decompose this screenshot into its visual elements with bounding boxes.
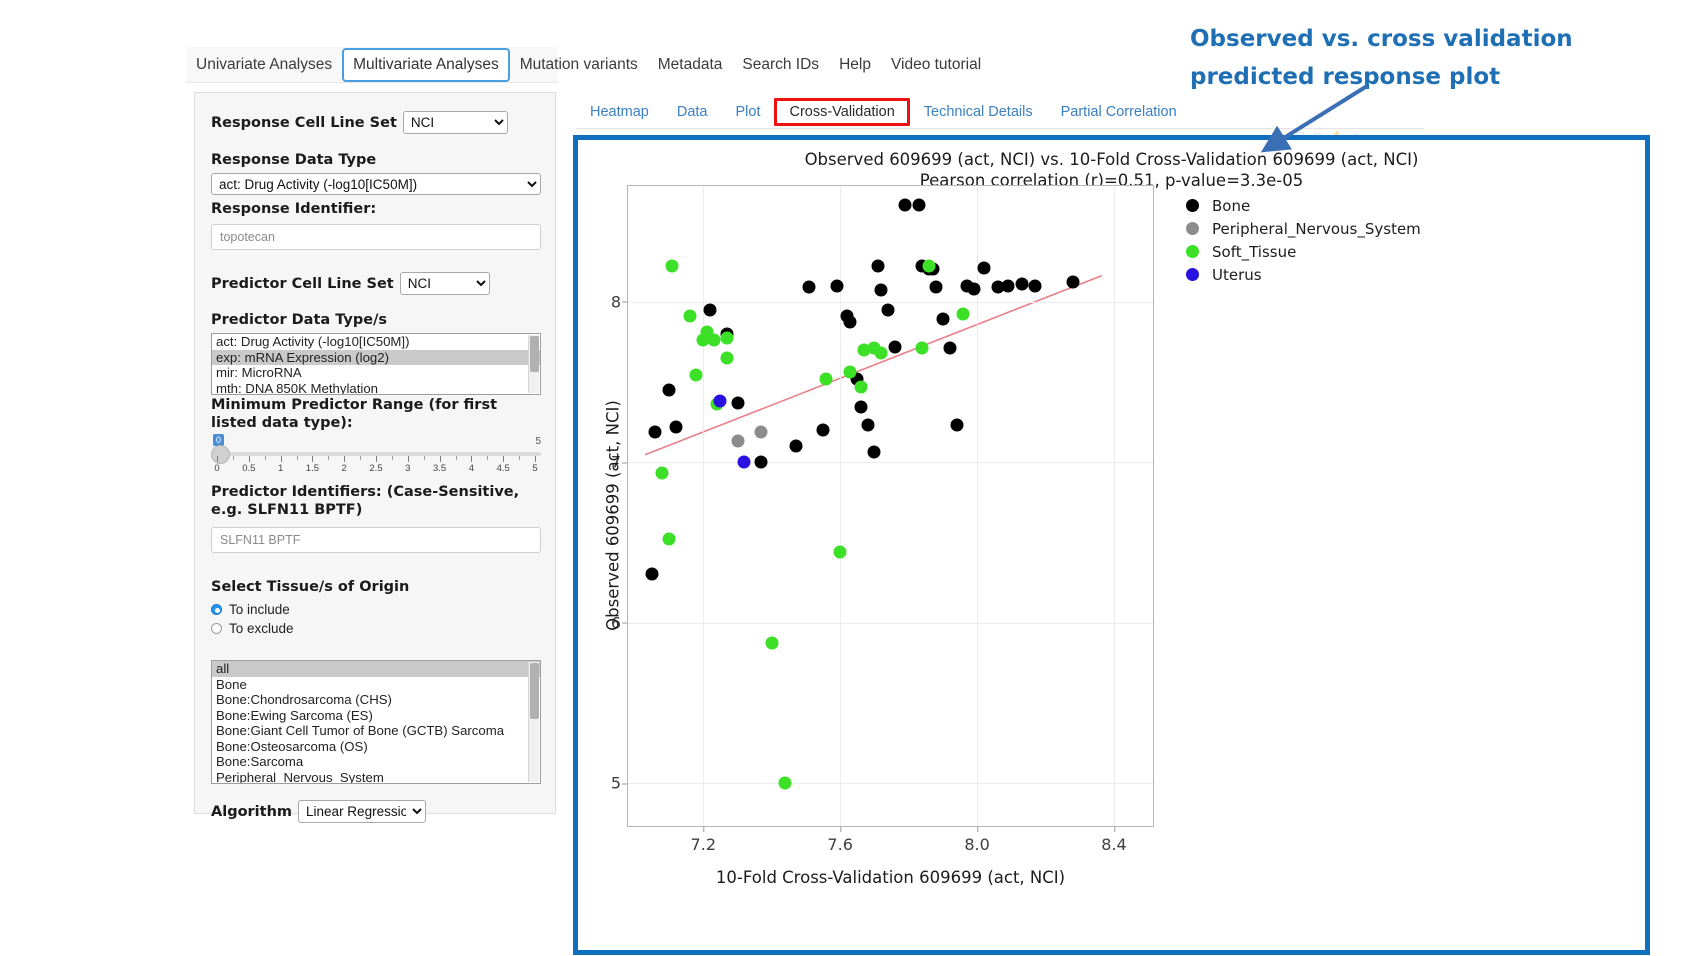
callout-arrow-icon [1255,80,1375,160]
gridline-horizontal [628,462,1153,463]
algorithm-select[interactable]: Linear Regression [298,800,426,823]
gridline-horizontal [628,783,1153,784]
legend-label-peripheral-nervous-system: Peripheral_Nervous_System [1212,220,1421,238]
callout-line-2: predicted response plot [1190,58,1610,96]
listbox-option[interactable]: Bone:Chondrosarcoma (CHS) [212,692,540,708]
slider-tick-label: 1 [278,463,283,474]
predictor-data-types-label: Predictor Data Type/s [211,311,539,329]
scatter-point-bone[interactable] [663,383,676,396]
scatter-point-soft-tissue[interactable] [721,332,734,345]
scatter-plot-axes[interactable]: 56787.27.68.08.4 [627,185,1154,827]
slider-tick-label: 2.5 [369,463,382,474]
scatter-point-bone[interactable] [977,261,990,274]
scatter-point-bone[interactable] [817,423,830,436]
legend-label-soft-tissue: Soft_Tissue [1212,243,1296,261]
gridline-vertical [1114,186,1115,826]
scatter-point-bone[interactable] [882,303,895,316]
scatter-point-bone[interactable] [1001,279,1014,292]
response-cell-line-set-row: Response Cell Line Set NCI [211,111,539,134]
scatter-point-soft-tissue[interactable] [765,637,778,650]
predictor-cell-line-set-label: Predictor Cell Line Set [211,275,394,293]
listbox-option[interactable]: Bone:Ewing Sarcoma (ES) [212,708,540,724]
scatter-point-bone[interactable] [1066,276,1079,289]
scatter-point-bone[interactable] [912,199,925,212]
predictor-identifiers-label: Predictor Identifiers: (Case-Sensitive, … [211,483,531,519]
scatter-point-bone[interactable] [871,260,884,273]
subtab-partial-correlation[interactable]: Partial Correlation [1047,100,1191,124]
x-axis-tick-label: 8.0 [964,835,989,854]
x-axis-tick-label: 7.2 [691,835,716,854]
scatter-point-soft-tissue[interactable] [707,334,720,347]
scatter-point-soft-tissue[interactable] [779,777,792,790]
response-identifier-label: Response Identifier: [211,200,539,218]
legend-item-soft-tissue[interactable]: Soft_Tissue [1186,240,1421,263]
tissue-mode-include[interactable]: To include [211,602,539,617]
legend-item-uterus[interactable]: Uterus [1186,263,1421,286]
scatter-point-bone[interactable] [899,199,912,212]
callout-annotation: Observed vs. cross validation predicted … [1190,20,1610,96]
scrollbar-thumb[interactable] [530,336,539,372]
min-predictor-range-slider[interactable]: 0 5 00.511.522.533.544.55 [211,434,541,480]
legend-label-bone: Bone [1212,197,1250,215]
listbox-option[interactable]: Bone:Giant Cell Tumor of Bone (GCTB) Sar… [212,723,540,739]
response-data-type-select[interactable]: act: Drug Activity (-log10[IC50M]) [211,173,541,195]
listbox-option[interactable]: mth: DNA 850K Methylation [212,381,540,396]
gridline-vertical [977,186,978,826]
scatter-point-bone[interactable] [669,420,682,433]
subtab-heatmap[interactable]: Heatmap [576,100,663,124]
tissue-mode-exclude[interactable]: To exclude [211,621,539,636]
slider-tick-label: 4 [469,463,474,474]
listbox-option[interactable]: Peripheral_Nervous_System [212,770,540,785]
scatter-point-bone[interactable] [649,425,662,438]
scatter-point-bone[interactable] [731,396,744,409]
scatter-point-uterus[interactable] [714,395,727,408]
listbox-option[interactable]: act: Drug Activity (-log10[IC50M]) [212,334,540,350]
legend-swatch-peripheral-nervous-system [1186,222,1199,235]
x-axis-label: 10-Fold Cross-Validation 609699 (act, NC… [627,868,1154,887]
plot-legend: Bone Peripheral_Nervous_System Soft_Tiss… [1186,194,1421,286]
slider-tick-labels: 00.511.522.533.544.55 [211,463,541,475]
response-cell-line-set-select[interactable]: NCI [403,111,508,134]
response-cell-line-set-label: Response Cell Line Set [211,114,397,132]
scatter-point-soft-tissue[interactable] [656,467,669,480]
scatter-point-bone[interactable] [950,419,963,432]
slider-tick-label: 3 [405,463,410,474]
slider-max-label: 5 [535,436,541,447]
scatter-point-peripheral-nervous-system[interactable] [755,425,768,438]
listbox-option[interactable]: Bone:Osteosarcoma (OS) [212,739,540,755]
scatter-point-soft-tissue[interactable] [923,260,936,273]
scatter-point-peripheral-nervous-system[interactable] [731,435,744,448]
scatter-point-soft-tissue[interactable] [834,545,847,558]
cross-validation-plot-panel: Observed 609699 (act, NCI) vs. 10-Fold C… [573,135,1650,955]
scatter-point-soft-tissue[interactable] [854,380,867,393]
nav-item-video-tutorial[interactable]: Video tutorial [881,49,991,81]
radio-exclude-icon[interactable] [211,623,222,634]
scatter-point-bone[interactable] [967,282,980,295]
scatter-point-soft-tissue[interactable] [721,351,734,364]
scatter-point-soft-tissue[interactable] [690,369,703,382]
listbox-option[interactable]: mir: MicroRNA [212,365,540,381]
scatter-point-soft-tissue[interactable] [683,310,696,323]
subtab-data[interactable]: Data [663,100,722,124]
scatter-point-soft-tissue[interactable] [844,366,857,379]
scatter-point-bone[interactable] [803,281,816,294]
y-axis-tick-label: 5 [611,774,621,793]
scatter-point-soft-tissue[interactable] [820,372,833,385]
scatter-point-bone[interactable] [844,316,857,329]
analysis-subtabs: Heatmap Data Plot Cross-Validation Techn… [576,98,1191,126]
scatter-point-bone[interactable] [875,284,888,297]
slider-tick-label: 3.5 [433,463,446,474]
slider-tick-label: 0.5 [242,463,255,474]
scatter-point-bone[interactable] [789,440,802,453]
legend-swatch-bone [1186,199,1199,212]
subtab-plot[interactable]: Plot [721,100,774,124]
gridline-horizontal [628,623,1153,624]
subtab-cross-validation[interactable]: Cross-Validation [774,98,909,126]
scatter-point-bone[interactable] [861,419,874,432]
predictor-identifiers-input[interactable] [211,527,541,553]
scatter-point-soft-tissue[interactable] [663,533,676,546]
radio-exclude-label: To exclude [229,621,294,636]
scatter-point-bone[interactable] [1029,279,1042,292]
listbox-option-selected[interactable]: all [212,661,540,677]
x-axis-tick-label: 8.4 [1101,835,1126,854]
scatter-point-bone[interactable] [854,401,867,414]
response-identifier-input[interactable] [211,224,541,250]
algorithm-label: Algorithm [211,803,292,821]
radio-include-label: To include [229,602,290,617]
scatter-point-bone[interactable] [704,303,717,316]
nav-item-metadata[interactable]: Metadata [648,49,733,81]
nav-item-help[interactable]: Help [829,49,881,81]
subtab-technical-details[interactable]: Technical Details [910,100,1047,124]
x-axis-tick-label: 7.6 [827,835,852,854]
listbox-option-selected[interactable]: exp: mRNA Expression (log2) [212,350,540,366]
nav-item-multivariate-analyses[interactable]: Multivariate Analyses [342,48,510,82]
scatter-point-bone[interactable] [936,313,949,326]
callout-line-1: Observed vs. cross validation [1190,20,1610,58]
slider-tick-label: 2 [342,463,347,474]
main-navbar: Univariate Analyses Multivariate Analyse… [186,48,991,82]
scatter-point-bone[interactable] [645,568,658,581]
scrollbar-thumb[interactable] [530,663,539,719]
scatter-point-soft-tissue[interactable] [875,346,888,359]
tissue-origin-listbox[interactable]: all Bone Bone:Chondrosarcoma (CHS) Bone:… [211,660,541,784]
gridline-vertical [703,186,704,826]
legend-item-peripheral-nervous-system[interactable]: Peripheral_Nervous_System [1186,217,1421,240]
listbox-option[interactable]: Bone [212,677,540,693]
scatter-point-bone[interactable] [1015,277,1028,290]
scatter-point-bone[interactable] [943,342,956,355]
nav-item-search-ids[interactable]: Search IDs [732,49,829,81]
predictor-cell-line-set-select[interactable]: NCI [400,272,490,295]
predictor-cell-line-set-row: Predictor Cell Line Set NCI [211,272,539,295]
slider-tick-label: 5 [532,463,537,474]
nav-item-mutation-variants[interactable]: Mutation variants [510,49,648,81]
min-predictor-range-label: Minimum Predictor Range (for first liste… [211,396,531,432]
legend-swatch-uterus [1186,268,1199,281]
y-axis-label: Observed 609699 (act, NCI) [604,306,623,726]
plot-title: Observed 609699 (act, NCI) vs. 10-Fold C… [578,149,1645,170]
predictor-data-types-listbox[interactable]: act: Drug Activity (-log10[IC50M]) exp: … [211,333,541,395]
nav-item-univariate-analyses[interactable]: Univariate Analyses [186,49,342,81]
scatter-point-bone[interactable] [888,340,901,353]
gridline-horizontal [628,302,1153,303]
scatter-point-bone[interactable] [755,456,768,469]
algorithm-row: Algorithm Linear Regression [211,800,539,823]
legend-item-bone[interactable]: Bone [1186,194,1421,217]
legend-label-uterus: Uterus [1212,266,1262,284]
scatter-point-bone[interactable] [868,446,881,459]
listbox-scrollbar[interactable] [528,662,539,782]
app-root: Univariate Analyses Multivariate Analyse… [0,0,1700,956]
radio-include-icon[interactable] [211,604,222,615]
scatter-point-soft-tissue[interactable] [957,308,970,321]
scatter-point-uterus[interactable] [738,456,751,469]
listbox-option[interactable]: Bone:Sarcoma [212,754,540,770]
listbox-scrollbar[interactable] [528,335,539,393]
scatter-point-soft-tissue[interactable] [916,342,929,355]
controls-panel: Response Cell Line Set NCI Response Data… [194,92,556,814]
scatter-point-bone[interactable] [929,281,942,294]
scatter-point-bone[interactable] [830,279,843,292]
slider-tick-label: 4.5 [497,463,510,474]
slider-tick-label: 1.5 [306,463,319,474]
tissue-origin-label: Select Tissue/s of Origin [211,578,539,596]
legend-swatch-soft-tissue [1186,245,1199,258]
scatter-point-soft-tissue[interactable] [666,260,679,273]
response-data-type-label: Response Data Type [211,151,539,169]
slider-tick-label: 0 [214,463,219,474]
